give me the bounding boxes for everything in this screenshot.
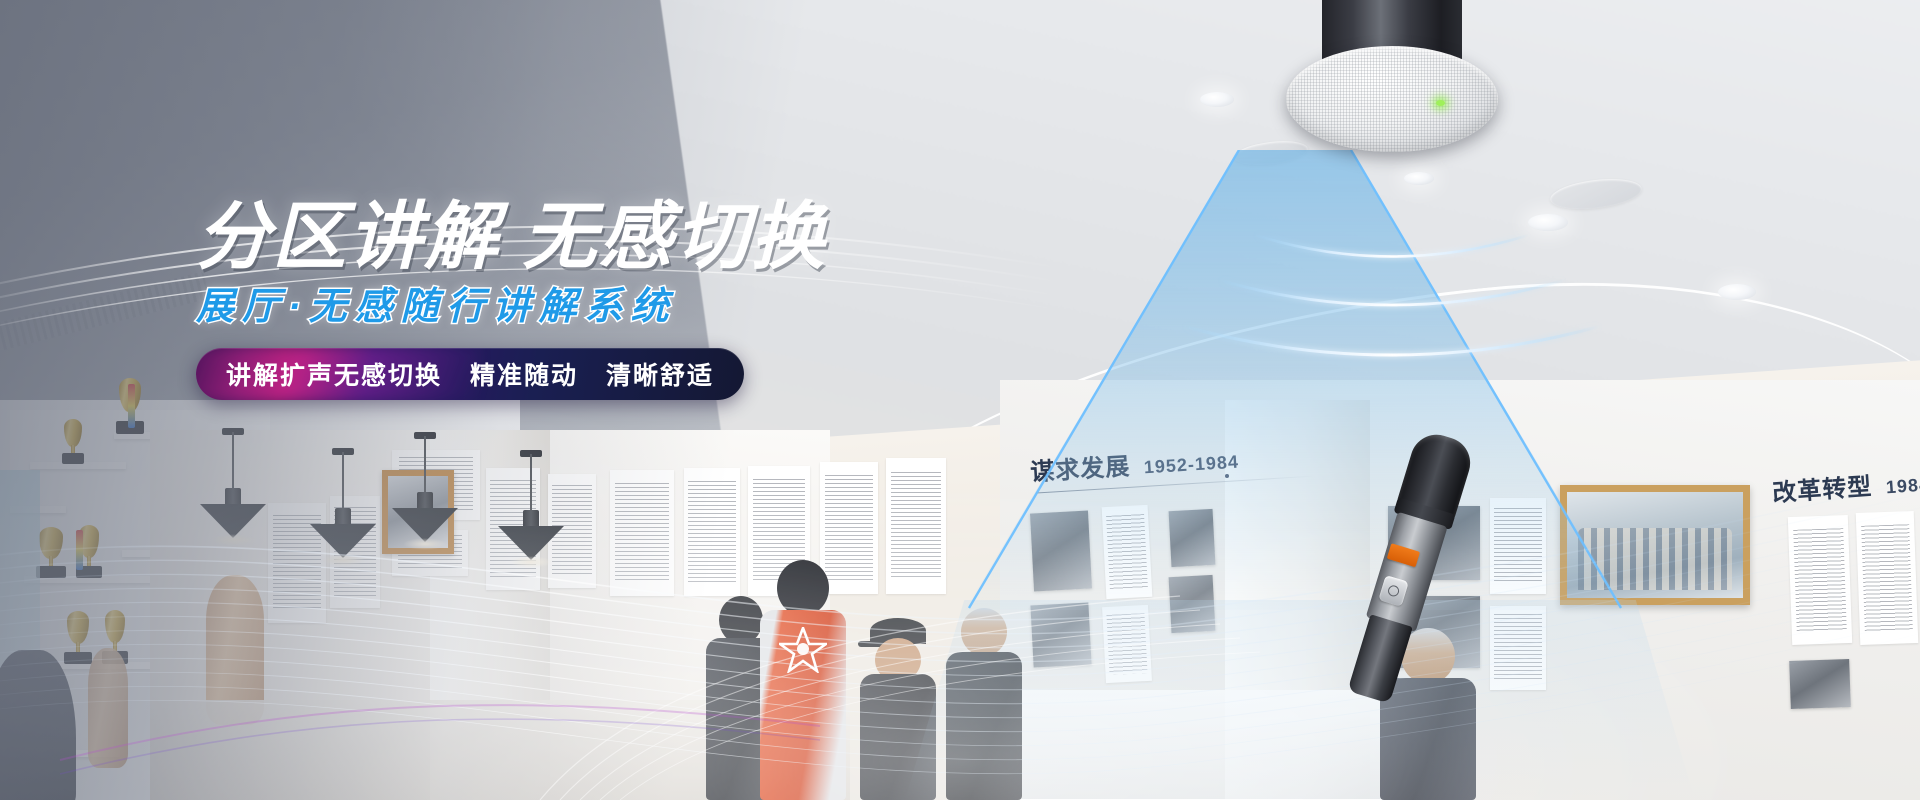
downlight	[1718, 284, 1756, 300]
banner-title: 分区讲解 无感切换	[196, 200, 956, 274]
exhibit-panel	[1856, 511, 1919, 645]
downlight	[1200, 92, 1234, 107]
sound-cone-edges	[965, 150, 1625, 610]
wall-photo	[1789, 659, 1851, 709]
wall-heading-2-years: 1984-2010	[1885, 471, 1920, 498]
banner-subtitle: 展厅·无感随行讲解系统	[196, 286, 956, 330]
product-banner: 谋求发展 1952-1984 改革转型 1984-2010	[0, 0, 1920, 800]
exhibit-panel	[1788, 515, 1852, 645]
mic-battery-grip	[1347, 614, 1412, 703]
feature-pill-text: 讲解扩声无感切换精准随动清晰舒适	[226, 356, 714, 392]
feature-pill: 讲解扩声无感切换精准随动清晰舒适	[196, 348, 744, 400]
wall-heading-2-label: 改革转型	[1772, 473, 1874, 507]
feature-item: 讲解扩声无感切换	[226, 362, 442, 390]
feature-item: 清晰舒适	[606, 362, 714, 390]
banner-text-block: 分区讲解 无感切换 展厅·无感随行讲解系统 讲解扩声无感切换精准随动清晰舒适	[196, 200, 956, 400]
sound-coverage-cone-falloff	[905, 600, 1695, 800]
speaker-grille	[1286, 46, 1498, 152]
mic-body	[1366, 512, 1448, 632]
left-vignette	[0, 0, 900, 800]
speaker-status-led	[1436, 100, 1445, 106]
ceiling-speaker[interactable]	[1286, 0, 1498, 164]
feature-item: 精准随动	[470, 362, 578, 390]
